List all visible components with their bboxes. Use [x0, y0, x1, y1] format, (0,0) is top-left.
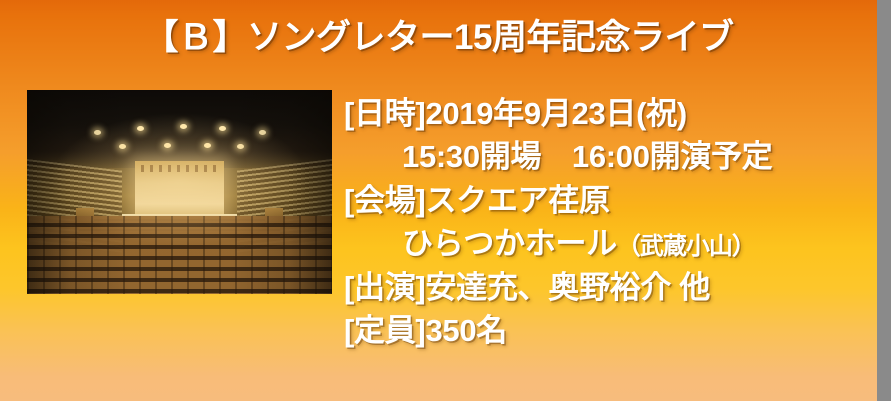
poster-title: 【Ｂ】ソングレター15周年記念ライブ: [0, 16, 877, 60]
detail-venue-hall-row: ひらつかホール（武蔵小山）: [344, 222, 864, 265]
photo-vignette: [27, 90, 332, 294]
event-poster: 【Ｂ】ソングレター15周年記念ライブ [日時]2019年9月23日(祝) 15:…: [0, 0, 891, 401]
detail-datetime: [日時]2019年9月23日(祝): [344, 92, 864, 135]
detail-venue: [会場]スクエア荏原: [344, 179, 864, 222]
detail-capacity: [定員]350名: [344, 309, 864, 352]
concert-hall-photo: [27, 90, 332, 294]
detail-venue-hall: ひらつかホール: [402, 226, 617, 261]
detail-times: 15:30開場 16:00開演予定: [344, 135, 864, 178]
event-details: [日時]2019年9月23日(祝) 15:30開場 16:00開演予定 [会場]…: [344, 92, 864, 352]
detail-venue-hall-station: （武蔵小山）: [617, 233, 755, 260]
detail-performers: [出演]安達充、奥野裕介 他: [344, 266, 864, 309]
